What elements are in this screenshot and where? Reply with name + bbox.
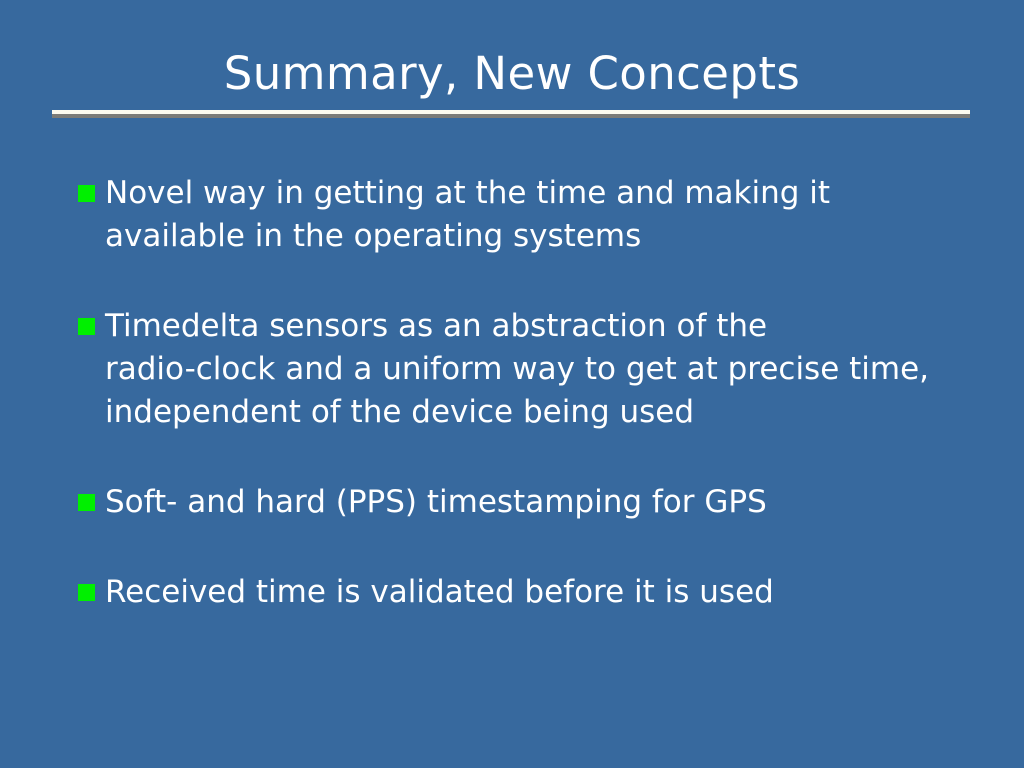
square-bullet-icon [78, 494, 95, 511]
square-bullet-icon [78, 185, 95, 202]
square-bullet-icon [78, 584, 95, 601]
square-bullet-icon [78, 318, 95, 335]
list-item-text: Soft- and hard (PPS) timestamping for GP… [105, 481, 958, 524]
list-item-text: Timedelta sensors as an abstraction of t… [105, 305, 958, 434]
divider-shadow-line [52, 114, 970, 118]
page-title: Summary, New Concepts [0, 48, 1024, 100]
title-divider [52, 110, 970, 118]
list-item: Received time is validated before it is … [78, 571, 958, 614]
title-block: Summary, New Concepts [0, 48, 1024, 100]
presentation-slide: Summary, New Concepts Novel way in getti… [0, 0, 1024, 768]
list-item: Timedelta sensors as an abstraction of t… [78, 305, 958, 434]
list-item: Novel way in getting at the time and mak… [78, 172, 958, 258]
bullet-list: Novel way in getting at the time and mak… [78, 172, 958, 614]
list-item-text: Novel way in getting at the time and mak… [105, 172, 958, 258]
list-item: Soft- and hard (PPS) timestamping for GP… [78, 481, 958, 524]
list-item-text: Received time is validated before it is … [105, 571, 958, 614]
